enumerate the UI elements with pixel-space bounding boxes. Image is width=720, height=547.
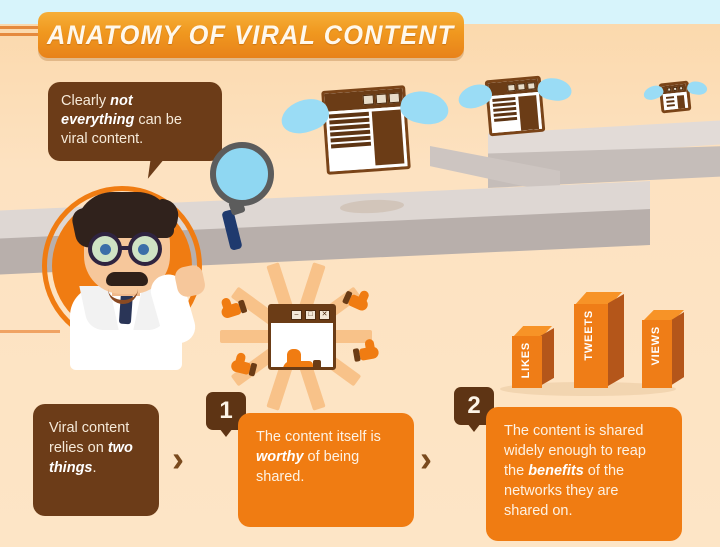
step-badge-2-number: 2: [467, 394, 480, 418]
engagement-bar-chart: LIKES TWEETS VIEWS: [494, 282, 684, 392]
eye-right: [138, 244, 149, 255]
bar-likes: LIKES: [504, 326, 556, 388]
step-two-text: The content is shared widely enough to r…: [504, 421, 664, 521]
thumbs-up-browser-window: – □ ✕: [268, 304, 336, 370]
window-title-bar: – □ ✕: [271, 307, 333, 323]
thumbs-up-icon-small-4: [350, 338, 379, 362]
winged-browser-window-medium: [485, 76, 546, 137]
infographic-canvas: ANATOMY OF VIRAL CONTENT Clearly not eve…: [0, 0, 720, 547]
magnifying-glass-icon: [196, 142, 288, 254]
winged-browser-window-small: [659, 81, 692, 114]
intro-box: Viral content relies on two things.: [33, 404, 159, 516]
maximize-icon[interactable]: □: [305, 310, 316, 320]
step-one-text-part-1: The content itself is: [256, 429, 381, 445]
mustache: [106, 272, 148, 286]
step-badge-1-number: 1: [219, 399, 232, 423]
step-one-box: The content itself is worthy of being sh…: [238, 413, 414, 527]
magnifier-handle: [221, 209, 242, 251]
close-icon[interactable]: ✕: [319, 310, 330, 320]
eye-left: [100, 244, 111, 255]
speech-bubble-text: Clearly not everything can be viral cont…: [61, 92, 209, 149]
minimize-icon[interactable]: –: [291, 310, 302, 320]
bar-tweets: TWEETS: [566, 292, 628, 388]
intro-text: Viral content relies on two things.: [49, 418, 143, 478]
winged-browser-window-large: [321, 85, 411, 175]
speech-text-part-1: Clearly: [61, 93, 110, 109]
thumbs-up-icon: [283, 349, 325, 370]
bar-views: VIEWS: [636, 310, 688, 388]
like-burst-group: – □ ✕: [216, 278, 384, 396]
step-one-text-emphasis: worthy: [256, 449, 304, 465]
step-two-text-emphasis: benefits: [528, 463, 584, 479]
step-two-box: The content is shared widely enough to r…: [486, 407, 682, 541]
glasses-bridge: [120, 246, 132, 250]
bar-label-views: VIEWS: [650, 326, 662, 365]
bar-label-tweets: TWEETS: [583, 310, 595, 361]
intro-text-part-2: .: [93, 460, 97, 476]
step-one-text: The content itself is worthy of being sh…: [256, 427, 396, 487]
thumbs-up-icon-small-1: [218, 292, 249, 319]
magnifier-lens: [210, 142, 274, 206]
title-banner: ANATOMY OF VIRAL CONTENT: [38, 12, 464, 58]
bar-label-likes: LIKES: [520, 342, 532, 378]
page-title: ANATOMY OF VIRAL CONTENT: [47, 20, 454, 51]
chevron-right-icon-2: ›: [420, 441, 432, 477]
chevron-right-icon-1: ›: [172, 441, 184, 477]
